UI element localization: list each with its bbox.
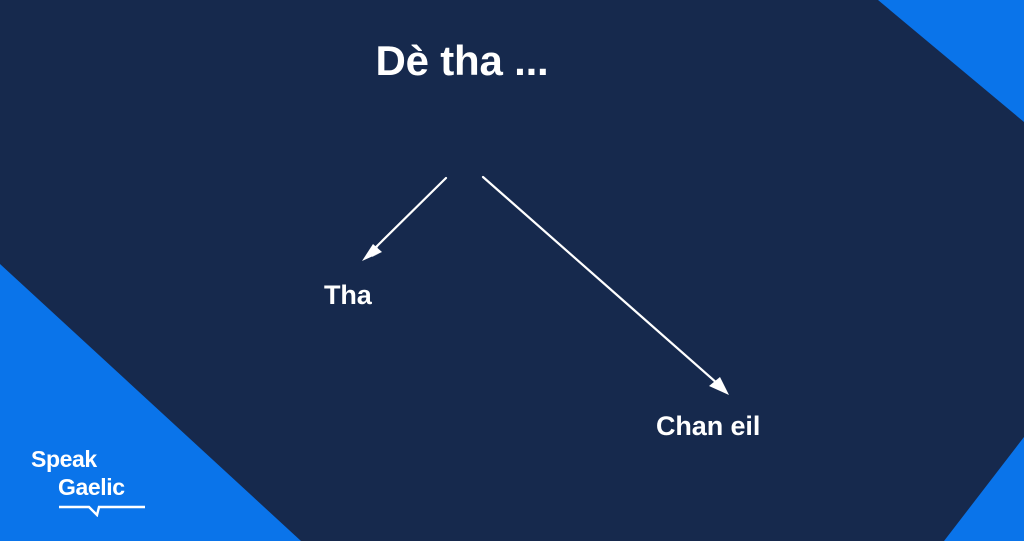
- logo-text-gaelic: Gaelic: [58, 473, 151, 501]
- branch-label-chan-eil: Chan eil: [656, 412, 760, 442]
- branch-label-tha: Tha: [324, 281, 372, 311]
- speech-bubble-underline-icon: [59, 505, 145, 517]
- speakgaelic-logo: Speak Gaelic: [31, 445, 151, 520]
- logo-text-speak: Speak: [31, 445, 151, 473]
- slide-canvas: Dè tha ... Tha Chan eil Speak Gaelic: [0, 0, 1024, 541]
- page-title: Dè tha ...: [0, 38, 924, 84]
